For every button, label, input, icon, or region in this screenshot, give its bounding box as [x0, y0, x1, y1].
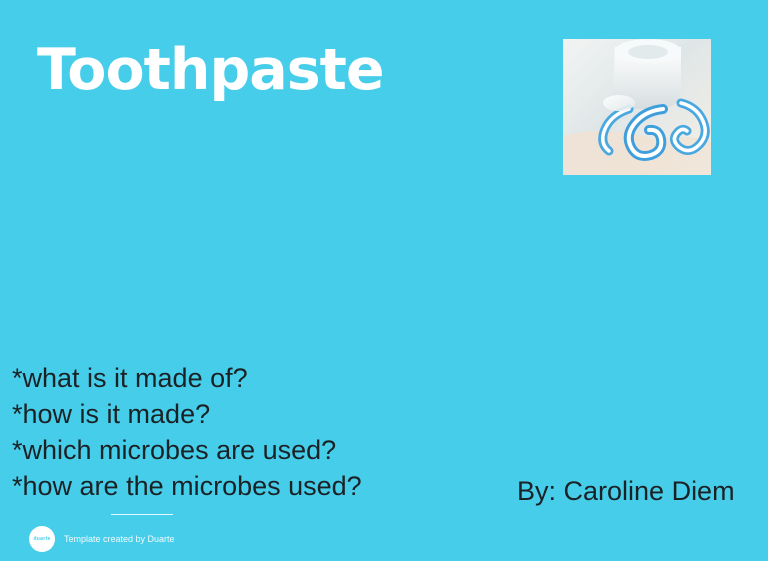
page-title: Toothpaste — [37, 38, 384, 102]
footer: duarte Template created by Duarte — [29, 526, 175, 552]
list-item: *how are the microbes used? — [12, 468, 362, 504]
list-item: *what is it made of? — [12, 360, 362, 396]
toothpaste-photo — [563, 39, 711, 175]
toothpaste-photo-graphic — [563, 39, 711, 175]
question-list: *what is it made of? *how is it made? *w… — [12, 360, 362, 504]
duarte-logo-icon: duarte — [29, 526, 55, 552]
footer-divider — [111, 514, 173, 515]
list-item: *how is it made? — [12, 396, 362, 432]
list-item: *which microbes are used? — [12, 432, 362, 468]
byline: By: Caroline Diem — [517, 474, 735, 508]
slide: Toothpaste — [0, 0, 768, 561]
duarte-logo-text: duarte — [33, 536, 50, 542]
footer-credit: Template created by Duarte — [64, 534, 175, 544]
